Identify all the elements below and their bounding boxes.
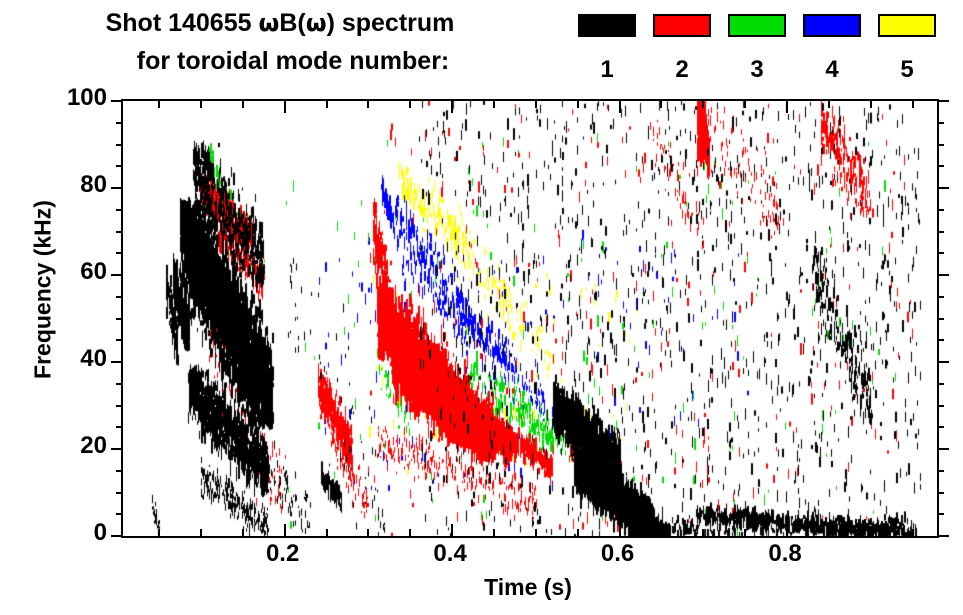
y-tick-35 <box>116 383 123 385</box>
legend-swatch-3 <box>728 14 786 37</box>
title-spectrum-text: ) spectrum <box>327 9 455 37</box>
x-tick-label-0.2: 0.2 <box>243 540 323 568</box>
x-tick-label-0.8: 0.8 <box>745 540 825 568</box>
y-tick-90 <box>116 144 123 146</box>
x-tick-0.8 <box>786 524 788 536</box>
omega-symbol-2: ω <box>306 9 327 37</box>
x-tick-0.65 <box>660 529 662 536</box>
y-tick-right-40 <box>937 361 949 363</box>
x-tick-top-0.4 <box>451 101 453 113</box>
x-tick-0.2 <box>284 524 286 536</box>
y-tick-25 <box>116 426 123 428</box>
y-tick-right-95 <box>937 122 944 124</box>
y-tick-85 <box>116 165 123 167</box>
y-tick-15 <box>116 470 123 472</box>
omega-symbol-1: ω <box>258 9 279 37</box>
y-tick-label-60: 60 <box>47 262 107 282</box>
y-tick-70 <box>116 231 123 233</box>
y-tick-right-55 <box>937 296 944 298</box>
y-tick-75 <box>116 209 123 211</box>
title-shot-text: Shot 140655 <box>106 9 259 37</box>
x-tick-0.35 <box>409 529 411 536</box>
legend-label-4: 4 <box>803 56 861 84</box>
legend: 12345 <box>578 10 953 90</box>
title-b-text: B( <box>279 9 305 37</box>
x-tick-0.7 <box>702 529 704 536</box>
y-tick-right-70 <box>937 231 944 233</box>
y-tick-55 <box>116 296 123 298</box>
x-tick-0.75 <box>744 529 746 536</box>
x-tick-top-0.55 <box>577 101 579 108</box>
y-tick-95 <box>116 122 123 124</box>
y-tick-65 <box>116 252 123 254</box>
x-tick-top-0.3 <box>367 101 369 108</box>
y-tick-right-30 <box>937 405 944 407</box>
y-tick-10 <box>116 492 123 494</box>
x-tick-top-0.1 <box>200 101 202 108</box>
legend-swatch-2 <box>653 14 711 37</box>
x-tick-0.4 <box>451 524 453 536</box>
y-tick-60 <box>111 274 123 276</box>
x-tick-top-0.95 <box>912 101 914 108</box>
x-tick-top-0.6 <box>619 101 621 113</box>
legend-swatch-1 <box>578 14 636 37</box>
y-tick-40 <box>111 361 123 363</box>
x-tick-top-0.9 <box>870 101 872 108</box>
legend-label-5: 5 <box>878 56 936 84</box>
legend-swatch-4 <box>803 14 861 37</box>
x-tick-0.6 <box>619 524 621 536</box>
legend-swatch-5 <box>878 14 936 37</box>
y-tick-right-5 <box>937 513 944 515</box>
x-tick-top-0.5 <box>535 101 537 108</box>
spectrogram-figure: Shot 140655 ωB(ω) spectrum for toroidal … <box>0 0 963 615</box>
title-line-1: Shot 140655 ωB(ω) spectrum <box>0 4 560 42</box>
y-tick-30 <box>116 405 123 407</box>
x-tick-0.3 <box>367 529 369 536</box>
y-tick-right-85 <box>937 165 944 167</box>
x-tick-0.45 <box>493 529 495 536</box>
y-tick-right-0 <box>937 535 949 537</box>
legend-label-2: 2 <box>653 56 711 84</box>
x-tick-0.05 <box>158 529 160 536</box>
x-tick-top-0.05 <box>158 101 160 108</box>
x-tick-0.25 <box>326 529 328 536</box>
legend-label-3: 3 <box>728 56 786 84</box>
x-tick-top-0.2 <box>284 101 286 113</box>
spectrogram-canvas <box>123 101 937 536</box>
x-tick-0.5 <box>535 529 537 536</box>
y-tick-5 <box>116 513 123 515</box>
y-tick-right-50 <box>937 318 944 320</box>
y-tick-label-100: 100 <box>47 88 107 108</box>
x-tick-top-0.85 <box>828 101 830 108</box>
x-tick-0.55 <box>577 529 579 536</box>
y-tick-right-65 <box>937 252 944 254</box>
spectrogram-canvas-wrap <box>123 101 937 536</box>
y-tick-label-80: 80 <box>47 175 107 195</box>
legend-label-1: 1 <box>578 56 636 84</box>
title-line-2: for toroidal mode number: <box>0 42 560 80</box>
x-tick-0.9 <box>870 529 872 536</box>
x-tick-0.1 <box>200 529 202 536</box>
x-tick-0.95 <box>912 529 914 536</box>
y-tick-0 <box>111 535 123 537</box>
y-tick-right-25 <box>937 426 944 428</box>
plot-area <box>121 99 939 538</box>
x-tick-top-0.8 <box>786 101 788 113</box>
x-tick-top-0.7 <box>702 101 704 108</box>
y-tick-80 <box>111 187 123 189</box>
legend-labels: 12345 <box>578 56 953 88</box>
x-tick-top-0.45 <box>493 101 495 108</box>
y-tick-right-45 <box>937 339 944 341</box>
x-tick-top-0.15 <box>242 101 244 108</box>
y-tick-right-100 <box>937 100 949 102</box>
y-tick-label-20: 20 <box>47 436 107 456</box>
x-tick-top-0.35 <box>409 101 411 108</box>
y-tick-right-80 <box>937 187 949 189</box>
y-tick-right-35 <box>937 383 944 385</box>
y-tick-45 <box>116 339 123 341</box>
y-tick-100 <box>111 100 123 102</box>
y-tick-right-60 <box>937 274 949 276</box>
y-tick-right-10 <box>937 492 944 494</box>
y-tick-label-0: 0 <box>47 523 107 543</box>
y-tick-right-90 <box>937 144 944 146</box>
x-tick-label-0.4: 0.4 <box>410 540 490 568</box>
y-tick-right-75 <box>937 209 944 211</box>
figure-title: Shot 140655 ωB(ω) spectrum for toroidal … <box>0 4 560 80</box>
legend-swatches <box>578 10 953 40</box>
x-tick-top-0.75 <box>744 101 746 108</box>
x-tick-top-0.65 <box>660 101 662 108</box>
x-axis-title: Time (s) <box>121 574 935 601</box>
y-tick-right-15 <box>937 470 944 472</box>
y-tick-right-20 <box>937 448 949 450</box>
x-tick-0.15 <box>242 529 244 536</box>
y-tick-labels: 020406080100 <box>31 99 107 534</box>
y-tick-50 <box>116 318 123 320</box>
x-tick-top-0.25 <box>326 101 328 108</box>
y-tick-label-40: 40 <box>47 349 107 369</box>
y-tick-20 <box>111 448 123 450</box>
x-tick-0.85 <box>828 529 830 536</box>
x-tick-labels: 0.20.40.60.8 <box>121 540 935 574</box>
x-tick-label-0.6: 0.6 <box>578 540 658 568</box>
